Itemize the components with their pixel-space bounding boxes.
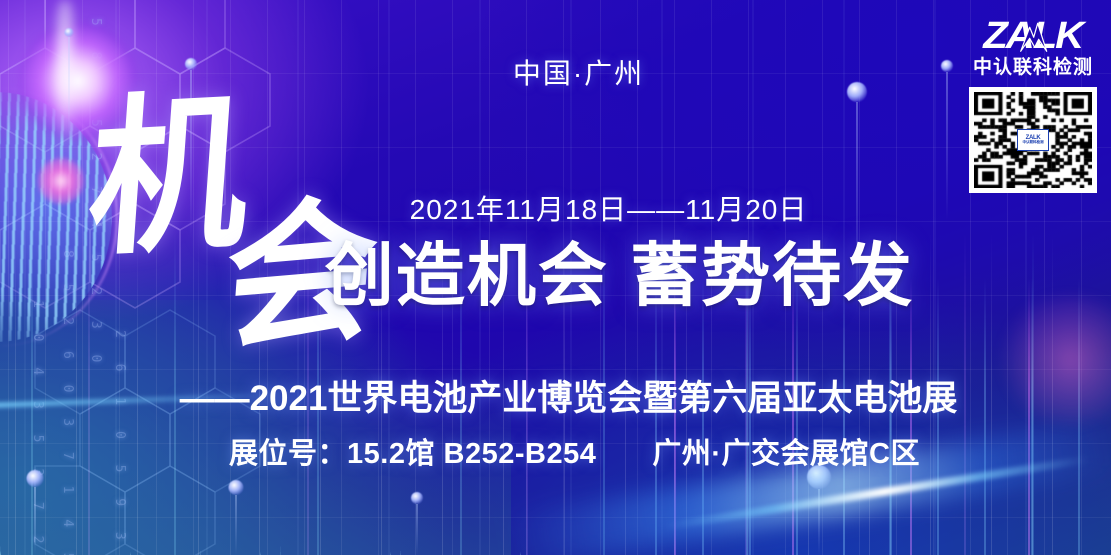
logo-chinese-name: 中认联科检测 [969, 58, 1097, 79]
event-date: 2021年11月18日——11月20日 [0, 188, 1111, 228]
qr-center-logo: ZALK 中认联科检测 [1017, 129, 1049, 151]
booth-number: 展位号：15.2馆 B252-B254 [229, 430, 596, 472]
qr-code[interactable]: ZALK 中认联科检测 [969, 87, 1097, 193]
qr-center-name: 中认联科检测 [1023, 141, 1044, 145]
subtitle-text: ——2021世界电池产业博览会暨第六届亚太电池展 [180, 379, 958, 418]
subtitle: ——2021世界电池产业博览会暨第六届亚太电池展 [0, 370, 1111, 421]
city-line-text: 中国·广州 [513, 58, 644, 89]
banner-content: 机 会 中国·广州 2021年11月18日——11月20日 创造机会 蓄势待发 … [0, 0, 1111, 555]
city-line: 中国·广州 [0, 52, 1111, 92]
lightning-peak-icon [1017, 21, 1051, 53]
headline-text: 创造机会 蓄势待发 [325, 237, 914, 314]
brand-block: ZALK 中认联科检测 ZALK 中认联科检测 [969, 16, 1097, 193]
headline: 创造机会 蓄势待发 [0, 238, 1111, 314]
booth-info-group: 展位号：15.2馆 B252-B254 广州·广交会展馆C区 [229, 430, 920, 472]
booth-venue: 广州·广交会展馆C区 [652, 430, 920, 472]
event-banner: 5 8 3 5 2 7 4 5 2 3 0 1 0 4 3 5 3 7 2 6 … [0, 0, 1111, 555]
booth-info: 展位号：15.2馆 B252-B254 广州·广交会展馆C区 [0, 430, 1111, 472]
logo-wordmark: ZALK [969, 16, 1097, 56]
event-date-text: 2021年11月18日——11月20日 [410, 194, 808, 225]
